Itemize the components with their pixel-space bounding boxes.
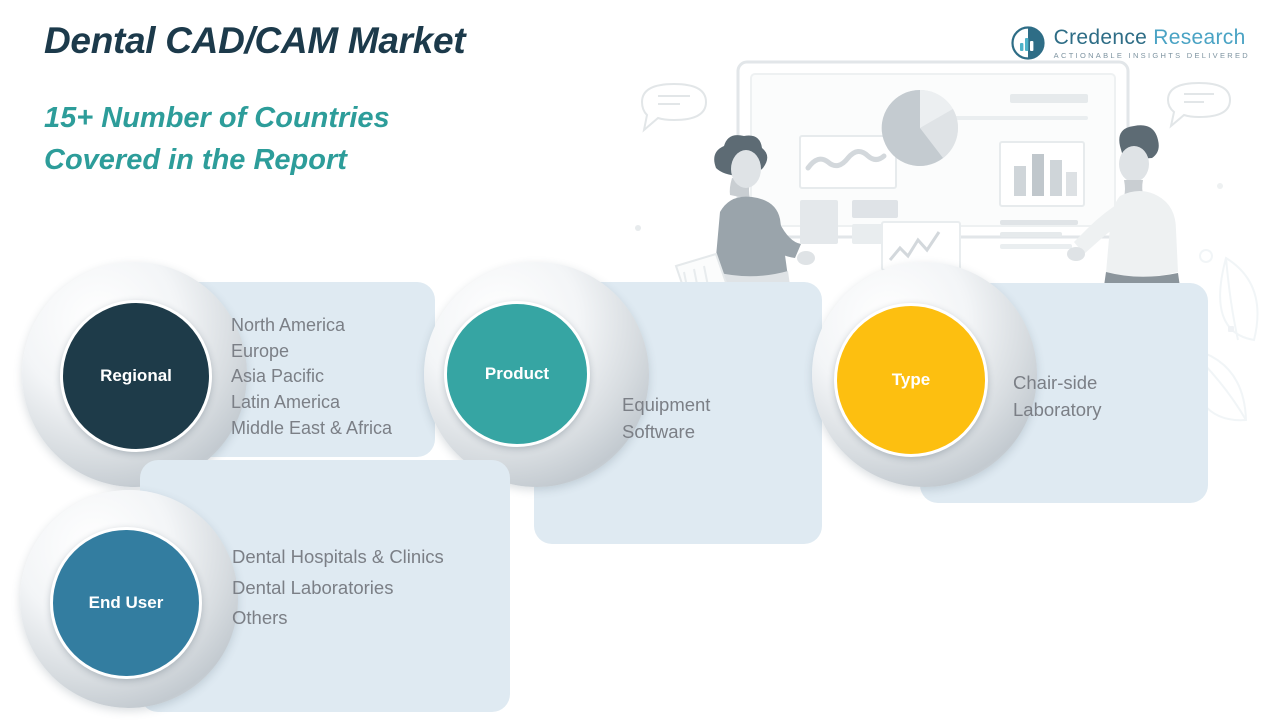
bar-chart-circle-icon [1011,26,1045,60]
segment-bubble-regional[interactable]: Regional [60,300,212,452]
segment-items-product: Equipment Software [622,392,822,446]
page-title: Dental CAD/CAM Market [44,20,465,62]
segment-bubble-type[interactable]: Type [834,303,988,457]
slide-canvas: Dental CAD/CAM Market 15+ Number of Coun… [0,0,1280,720]
brand-logo: Credence Research Actionable Insights De… [1011,26,1250,60]
segment-items-type: Chair-side Laboratory [1013,370,1203,424]
logo-name-primary: Credence [1054,26,1147,49]
segment-bubble-product[interactable]: Product [444,301,590,447]
logo-name-secondary: Research [1147,26,1245,49]
logo-tagline: Actionable Insights Delivered [1054,52,1250,60]
segment-items-end-user: Dental Hospitals & Clinics Dental Labora… [232,542,532,634]
segment-bubble-end-user[interactable]: End User [50,527,202,679]
page-subtitle: 15+ Number of Countries Covered in the R… [44,97,390,181]
segment-items-regional: North America Europe Asia Pacific Latin … [231,313,446,442]
